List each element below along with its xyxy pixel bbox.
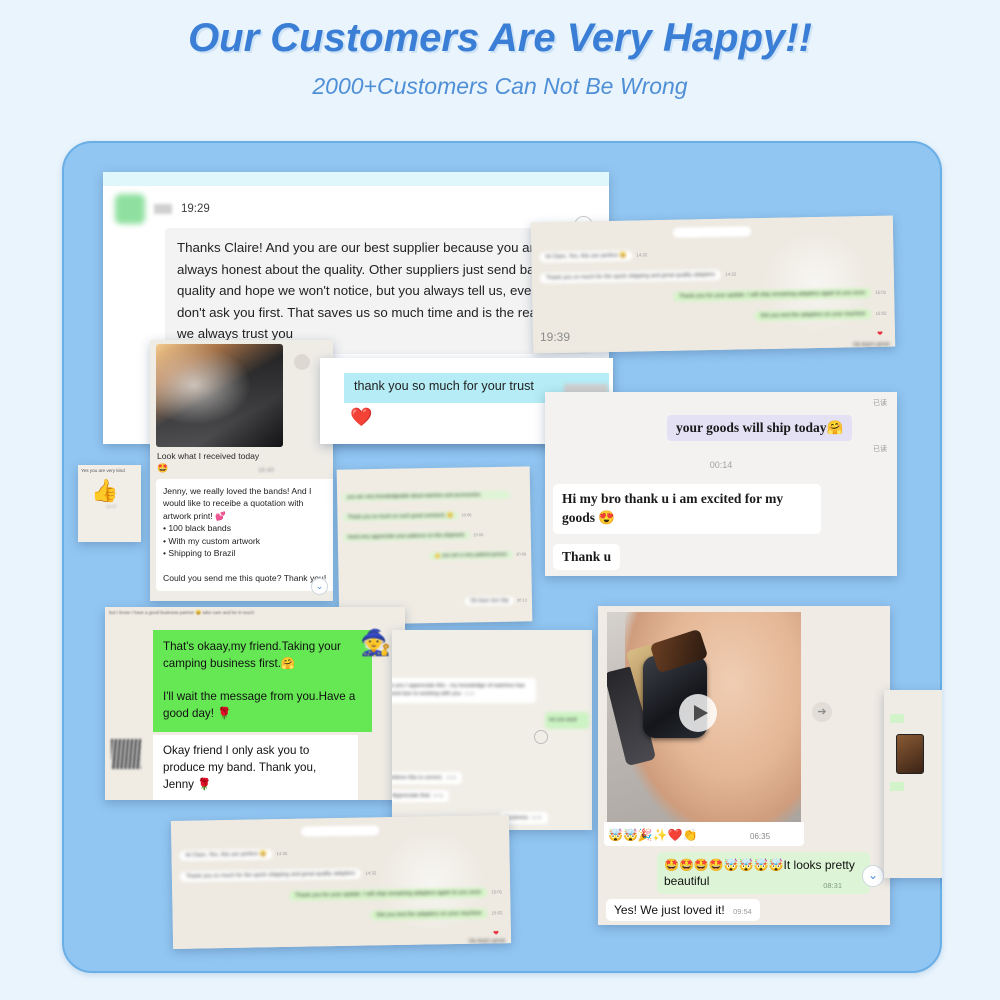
read-tick-top <box>890 714 904 723</box>
previous-message: but I know I have a good business partne… <box>109 610 405 616</box>
incoming-bubble: Thank you so much for the quick shipping… <box>540 270 722 283</box>
forward-icon[interactable] <box>294 354 310 370</box>
read-receipt: 已读 <box>873 444 887 454</box>
msg-time: 14:32 <box>276 851 287 856</box>
msg-time: 15:02 <box>492 910 503 915</box>
outgoing-bubble: That's okaay,my friend.Taking your campi… <box>153 630 372 732</box>
incoming-bubble: Yes! We just loved it! 09:54 <box>606 899 760 921</box>
msg-time: 18:54 <box>464 691 474 696</box>
camping-business-screenshot[interactable]: but I know I have a good business partne… <box>105 607 405 800</box>
msg-time: 20:06 <box>516 551 526 556</box>
incoming-text: Hi my bro thank u i am excited for my go… <box>562 491 783 525</box>
msg-time: 18:56 <box>433 793 443 798</box>
scroll-down-icon[interactable]: ⌄ <box>311 578 328 595</box>
msg-time: 08:31 <box>823 881 842 891</box>
watch-video-screenshot[interactable]: 🤯🤯🎉✨❤️👏 06:35 ➔ 🤩🤩🤩🤩🤯🤯🤯🤯It looks pretty … <box>598 606 890 925</box>
ship-today-text: your goods will ship today <box>676 420 827 435</box>
heart-reaction: ❤ <box>877 331 883 338</box>
incoming-bubble: Okay friend I only ask you to produce my… <box>153 735 358 800</box>
chat-row: heart,very appreciate your patience on t… <box>343 522 531 543</box>
white-message-text: Yes! We just loved it! <box>614 903 725 917</box>
video-time: 06:35 <box>750 832 770 841</box>
page-subtitle: 2000+Customers Can Not Be Wrong <box>0 61 1000 100</box>
sticker-icon: 🧙 <box>360 629 391 658</box>
msg-time: 15:01 <box>491 889 502 894</box>
incoming-bubble: Appreciate that18:56 <box>392 790 449 802</box>
msg-time: 09:54 <box>733 907 752 916</box>
msg-text: Appreciate that <box>392 793 430 799</box>
received-bands-photo[interactable] <box>156 344 283 447</box>
testimonial-text: Thanks Claire! And you are our best supp… <box>165 228 591 354</box>
date-divider <box>301 825 379 836</box>
outgoing-bubble: you are very knowledgeable about watches… <box>342 491 510 502</box>
avatar <box>111 739 141 769</box>
watch-video-thumbnail[interactable] <box>607 612 801 824</box>
video-emojis: 🤯🤯🎉✨❤️👏 <box>608 828 698 842</box>
outgoing-bubble: Did you test the adapters on your machin… <box>370 908 487 920</box>
chat-body: Hi Clare, Yes, this are perfect 😄14:32 T… <box>531 216 895 354</box>
incoming-bubble: Thank you so much for the quick shipping… <box>180 869 362 882</box>
msg-time: 20:06 <box>473 532 483 537</box>
appreciate-chat-screenshot[interactable]: Thank you I appreciate this - my knowled… <box>392 630 592 830</box>
date-divider <box>673 226 751 237</box>
overlay-timestamp: 19:39 <box>540 330 570 344</box>
outgoing-bubble: 👍 you are a very patient person. <box>429 551 513 560</box>
page-title: Our Customers Are Very Happy!! <box>0 0 1000 61</box>
knowledgeable-chat-screenshot[interactable]: you are very knowledgeable about watches… <box>337 466 533 624</box>
outgoing-bubble: 🤩🤩🤩🤩🤯🤯🤯🤯It looks pretty beautiful 08:31 <box>657 852 870 894</box>
msg-time: 18:55 <box>446 775 456 780</box>
whatsapp-adapters-chat-duplicate[interactable]: Hi Clare, Yes, this are perfect 😄14:32 T… <box>171 815 511 949</box>
chat-row: you are very knowledgeable about watches… <box>342 482 530 503</box>
sender-name-blurred <box>154 204 172 214</box>
outgoing-bubble: heart,very appreciate your patience on t… <box>343 531 471 541</box>
bands-received-screenshot[interactable]: Look what I received today 🤩 16:40 Jenny… <box>150 340 333 601</box>
outgoing-bubble: Ok that's great <box>853 342 889 349</box>
incoming-bubble: Ok have nice day <box>465 597 514 606</box>
thumbsup-sticker: 👍 <box>91 478 141 504</box>
read-tick-bottom <box>890 782 904 791</box>
circle-icon <box>534 730 548 744</box>
heart-reaction: ❤️ <box>350 407 372 428</box>
avatar <box>115 194 145 224</box>
msg-time: 20:07 <box>106 504 141 509</box>
msg-time: 15:01 <box>875 290 886 295</box>
incoming-emoji: 😍 <box>598 510 615 525</box>
msg-text: business <box>506 815 528 821</box>
page-header: Our Customers Are Very Happy!! 2000+Cust… <box>0 0 1000 130</box>
message-timestamp: 19:29 <box>181 203 210 215</box>
outgoing-bubble: your goods will ship today🤗 <box>667 415 852 441</box>
scroll-down-icon[interactable]: ⌄ <box>862 865 884 887</box>
kind-thumbsup-screenshot[interactable]: Yes you are very kind 👍 20:07 <box>78 465 141 542</box>
forward-icon[interactable]: ➔ <box>812 702 832 722</box>
msg-text: I believe this is correct. <box>392 775 443 781</box>
incoming-bubble: Thank you I appreciate this - my knowled… <box>392 678 536 703</box>
kind-text: Yes you are very kind <box>81 468 141 473</box>
heart-reaction: ❤ <box>493 930 499 937</box>
ship-today-screenshot[interactable]: 已读 your goods will ship today🤗 已读 00:14 … <box>545 392 897 576</box>
incoming-bubble: Hi my bro thank u i am excited for my go… <box>553 484 821 534</box>
play-icon[interactable] <box>679 694 717 732</box>
msg-text: Thank you I appreciate this - my knowled… <box>392 683 525 697</box>
photo-caption: Look what I received today <box>157 451 333 461</box>
msg-time: 14:32 <box>725 272 736 277</box>
msg-time: 20:13 <box>517 597 527 602</box>
msg-time: 15:02 <box>876 311 887 316</box>
outgoing-bubble: Ok that's great <box>469 938 505 945</box>
incoming-bubble: Hi Clare, Yes, this are perfect 😄 <box>179 849 272 861</box>
caption-emoji: 🤩 <box>157 463 333 474</box>
outgoing-bubble: Thank you so much on such good comment. … <box>342 512 458 522</box>
chat-body: Hi Clare, Yes, this are perfect 😄14:32 T… <box>171 815 511 949</box>
photo-time: 16:40 <box>258 467 274 474</box>
incoming-bubble: I believe this is correct.18:55 <box>392 772 462 784</box>
chat-row: 👍 you are a very patient person.20:06 <box>338 542 526 563</box>
testimonial-board-clip: 19:29 Thanks Claire! And you are our bes… <box>62 141 942 973</box>
window-topbar <box>103 172 609 186</box>
msg-time: 20:06 <box>461 512 471 517</box>
quote-request-text: Jenny, we really loved the bands! And I … <box>156 479 333 591</box>
outgoing-bubble: Did you test the adapters on your machin… <box>754 309 871 321</box>
read-receipt: 已读 <box>873 398 887 408</box>
whatsapp-adapters-chat[interactable]: Hi Clare, Yes, this are perfect 😄14:32 T… <box>531 216 895 354</box>
trust-text: thank you so much for your trust <box>354 379 534 393</box>
time-divider: 00:14 <box>545 460 897 470</box>
incoming-bubble: Hi Clare, Yes, this are perfect 😄 <box>539 251 632 263</box>
incoming-bubble-2: Thank u <box>553 544 620 570</box>
product-thumbnail[interactable] <box>896 734 924 774</box>
ship-today-emoji: 🤗 <box>827 420 844 435</box>
msg-time: 14:32 <box>636 252 647 257</box>
msg-time: 18:58 <box>531 815 541 820</box>
chat-row: Thank you so much on such good comment. … <box>342 502 530 523</box>
outgoing-bubble: we you anyti <box>545 712 589 729</box>
partial-edge-screenshot[interactable] <box>884 690 942 878</box>
